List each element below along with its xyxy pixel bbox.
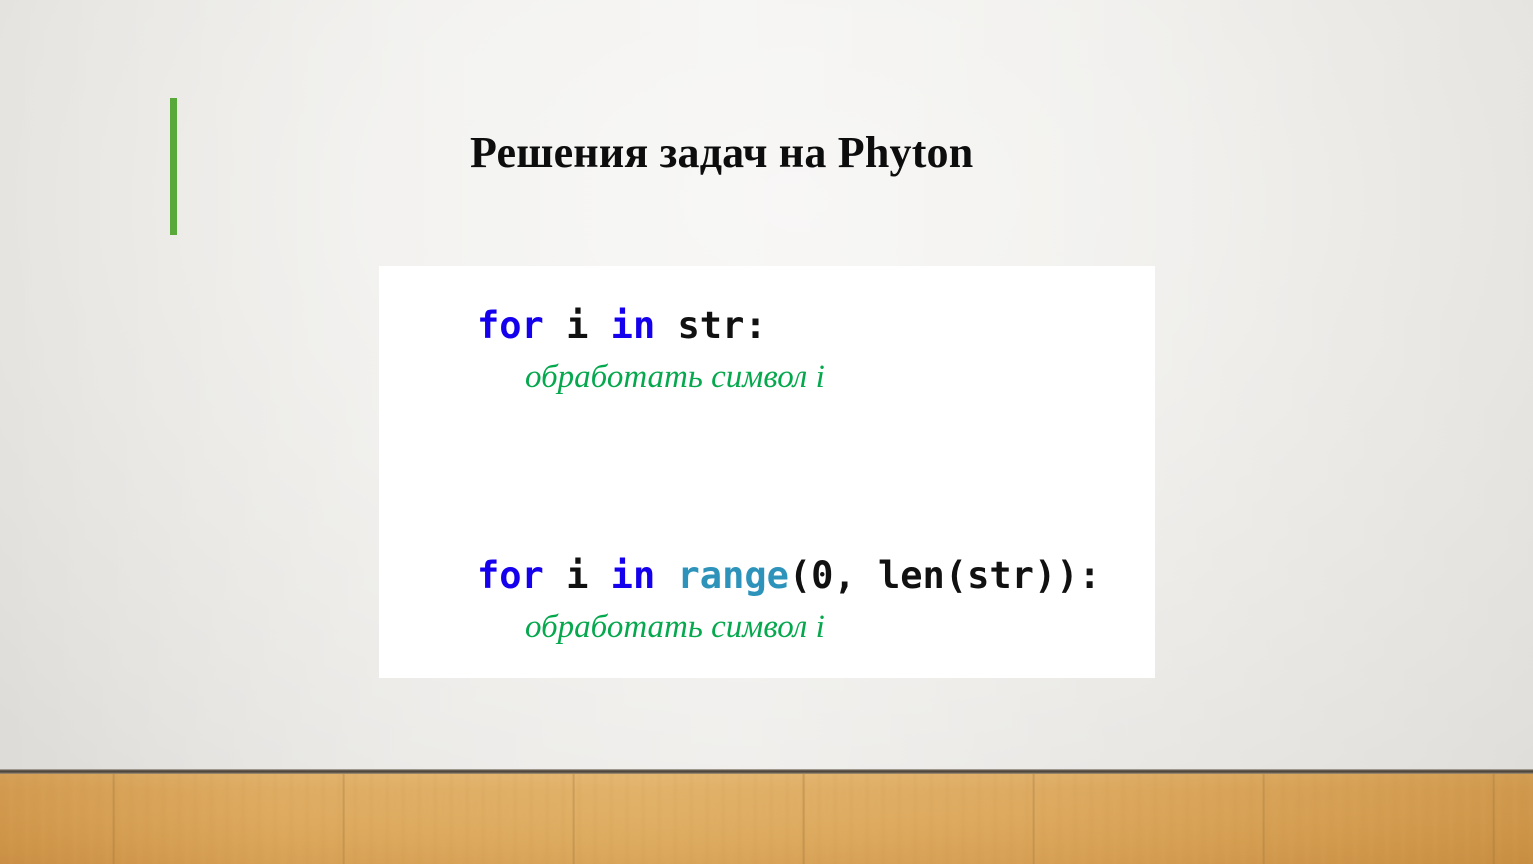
token-space [544, 554, 566, 597]
code-block-loop-over-string: for i in str: обработать символ i [477, 303, 825, 399]
pseudocode-body-line: обработать символ i [477, 605, 1101, 649]
token-space [655, 304, 677, 347]
token-iterable-str: str: [678, 304, 767, 347]
token-var-i: i [566, 304, 588, 347]
token-keyword-for: for [477, 554, 544, 597]
token-keyword-in: in [611, 304, 656, 347]
token-var-i: i [566, 554, 588, 597]
code-panel-content: for i in str: обработать символ i for i … [379, 266, 1155, 678]
code-line-for-in-range: for i in range(0, len(str)): [477, 553, 1101, 599]
code-panel: for i in str: обработать символ i for i … [379, 266, 1155, 678]
token-space [588, 554, 610, 597]
pseudocode-body-line: обработать символ i [477, 355, 825, 399]
token-space [544, 304, 566, 347]
token-space [655, 554, 677, 597]
presentation-slide: Решения задач на Phyton for i in str: об… [0, 0, 1533, 864]
token-keyword-for: for [477, 304, 544, 347]
wooden-floor [0, 774, 1533, 864]
token-space [588, 304, 610, 347]
page-title: Решения задач на Phyton [470, 129, 973, 177]
code-block-loop-over-range: for i in range(0, len(str)): обработать … [477, 553, 1101, 649]
code-line-for-in-str: for i in str: [477, 303, 825, 349]
token-range-arguments: (0, len(str)): [789, 554, 1101, 597]
title-accent-bar [170, 98, 177, 235]
token-keyword-in: in [611, 554, 656, 597]
token-function-range: range [678, 554, 789, 597]
